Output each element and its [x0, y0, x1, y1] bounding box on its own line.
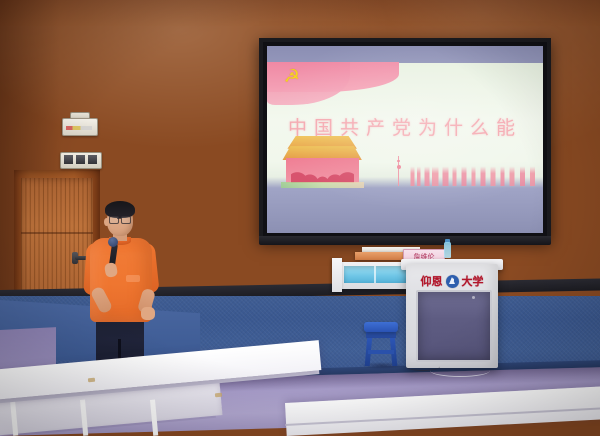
city-skyline-illustration: [408, 158, 535, 186]
floor-cable-dark: [406, 362, 440, 371]
tiananmen-gate-illustration: [281, 125, 364, 189]
presenter: [83, 197, 167, 372]
slide-pink-banner-accent: [267, 62, 350, 105]
tiananmen-arches: [291, 169, 354, 183]
lecture-hall-photo: ☭ 中国共产党为什么能 詹维伦: [0, 0, 600, 436]
drawer-divider: [374, 266, 376, 283]
eyeglass-lens-right: [121, 216, 131, 224]
university-name-right: 大学: [462, 273, 484, 289]
projection-screen-surface: ☭ 中国共产党为什么能: [267, 46, 543, 233]
eyeglasses-icon: [109, 216, 131, 222]
projection-screen-bottom-bar: [259, 236, 551, 245]
slide-letterbox-top: [267, 46, 543, 63]
control-panel-switch-3[interactable]: [88, 155, 97, 164]
microphone-head-icon: [108, 237, 118, 247]
stool-brace: [368, 350, 394, 354]
podium-screen-glint: [472, 296, 475, 299]
drawer-front-panel[interactable]: [332, 258, 342, 292]
desk-mark-1: [88, 378, 95, 383]
tv-tower-upper-sphere: [397, 160, 400, 163]
ceiling-band: [0, 0, 600, 26]
water-bottle: [444, 242, 451, 258]
tv-tower-illustration: [397, 156, 400, 186]
tv-tower-sphere: [397, 165, 401, 169]
presenter-hand-right: [141, 307, 155, 320]
hammer-and-sickle-icon: ☭: [281, 67, 303, 86]
blue-plastic-stool[interactable]: [364, 322, 398, 332]
slide-letterbox-bottom: [267, 188, 543, 233]
university-name-left: 仰恩: [421, 273, 443, 289]
desk-mark-2: [215, 393, 222, 398]
exit-light-indicator-strip: [66, 126, 92, 130]
podium-branding: 仰恩 大学: [406, 272, 498, 290]
control-panel-switch-1[interactable]: [64, 155, 73, 164]
podium-control-screen[interactable]: [416, 290, 492, 362]
control-panel-switch-2[interactable]: [76, 155, 85, 164]
university-crest-icon: [446, 275, 459, 288]
presenter-shirt-print: [126, 275, 140, 282]
